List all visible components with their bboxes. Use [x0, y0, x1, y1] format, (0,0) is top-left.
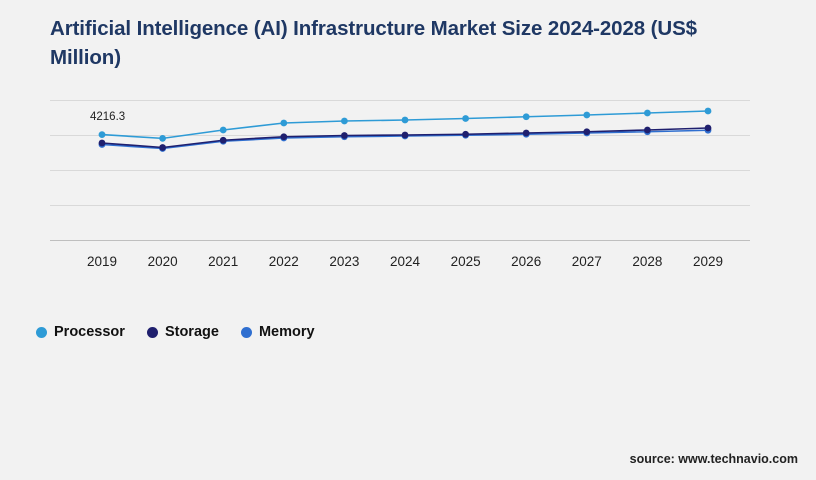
data-point [341, 132, 348, 139]
data-point [402, 132, 409, 139]
data-point [583, 128, 590, 135]
chart-title: Artificial Intelligence (AI) Infrastruct… [50, 14, 750, 72]
source-note: source: www.technavio.com [630, 452, 798, 466]
data-point [644, 110, 651, 117]
legend-marker-icon [147, 327, 158, 338]
legend-item[interactable]: Memory [241, 324, 315, 340]
data-point [705, 108, 712, 115]
data-point [341, 118, 348, 125]
data-point [99, 140, 106, 147]
data-point [280, 133, 287, 140]
data-point [705, 125, 712, 132]
legend-item[interactable]: Storage [147, 324, 219, 340]
x-axis-tick-label: 2022 [269, 254, 299, 269]
data-point [462, 115, 469, 122]
legend-marker-icon [36, 327, 47, 338]
x-axis-line [50, 240, 750, 241]
data-point [583, 112, 590, 119]
legend-item[interactable]: Processor [36, 324, 125, 340]
data-point [280, 120, 287, 127]
data-point [99, 131, 106, 138]
data-point [220, 127, 227, 134]
x-axis-tick-label: 2020 [148, 254, 178, 269]
x-axis-tick-label: 2019 [87, 254, 117, 269]
legend-marker-icon [241, 327, 252, 338]
data-point [523, 113, 530, 120]
data-point [462, 131, 469, 138]
x-axis-tick-label: 2027 [572, 254, 602, 269]
x-axis-tick-label: 2026 [511, 254, 541, 269]
legend-label: Processor [54, 324, 125, 340]
plot-area: 4216.3 [50, 100, 750, 240]
data-point [644, 127, 651, 134]
chart-legend: ProcessorStorageMemory [36, 324, 315, 340]
data-point [159, 144, 166, 151]
legend-label: Memory [259, 324, 315, 340]
data-point-label: 4216.3 [90, 111, 125, 123]
x-axis-tick-label: 2023 [329, 254, 359, 269]
data-point [159, 135, 166, 142]
x-axis-tick-label: 2025 [451, 254, 481, 269]
series-lines [50, 100, 750, 240]
legend-label: Storage [165, 324, 219, 340]
data-point [402, 117, 409, 124]
x-axis-tick-label: 2024 [390, 254, 420, 269]
data-point [523, 130, 530, 137]
x-axis-labels: 2019202020212022202320242025202620272028… [50, 254, 750, 274]
x-axis-tick-label: 2021 [208, 254, 238, 269]
chart-container: Artificial Intelligence (AI) Infrastruct… [0, 0, 816, 480]
x-axis-tick-label: 2028 [632, 254, 662, 269]
x-axis-tick-label: 2029 [693, 254, 723, 269]
data-point [220, 137, 227, 144]
